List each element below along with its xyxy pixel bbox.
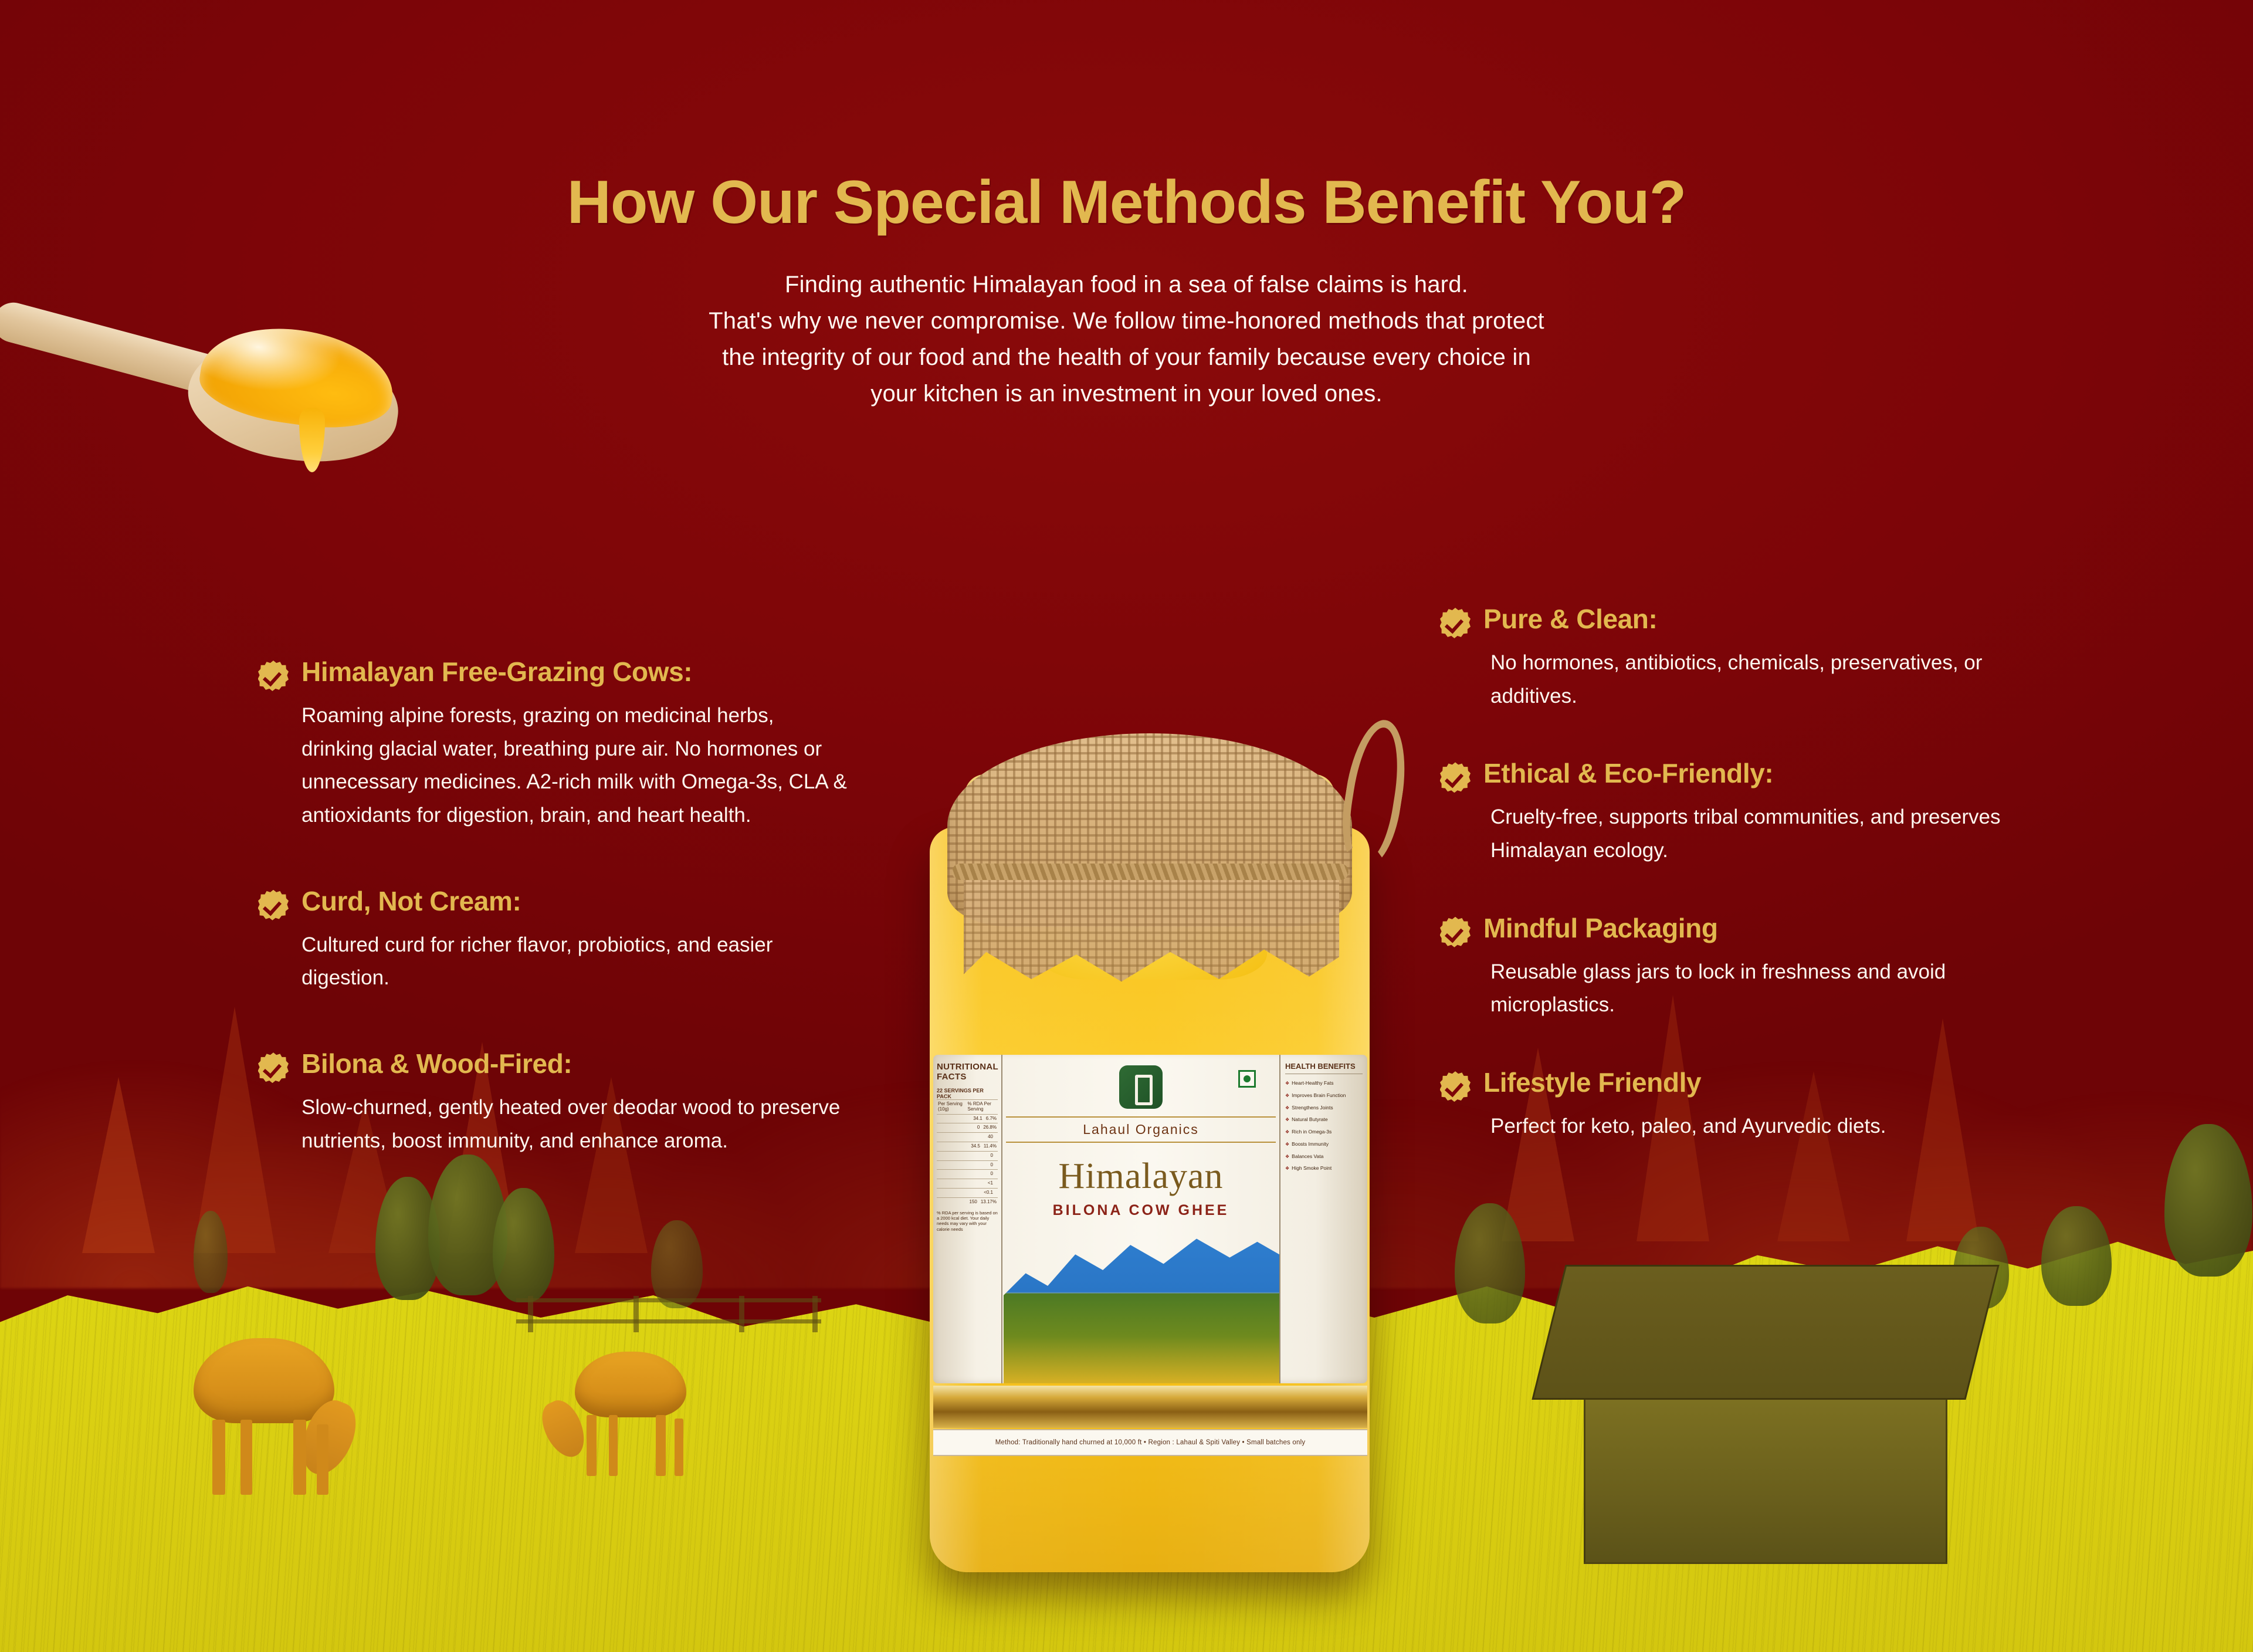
benefit-item-pure-and-clean[interactable]: Pure & Clean: No hormones, antibiotics, …: [1440, 604, 2044, 713]
benefit-heading: Himalayan Free-Grazing Cows:: [258, 657, 851, 691]
health-benefit-item: Strengthens Joints: [1285, 1105, 1363, 1111]
nutrition-row: 0: [937, 1169, 998, 1179]
check-badge-icon: [258, 1052, 289, 1083]
benefit-description: Slow-churned, gently heated over deodar …: [301, 1091, 851, 1157]
check-badge-icon: [258, 890, 289, 920]
benefit-title: Himalayan Free-Grazing Cows:: [301, 657, 692, 687]
nutrition-value: 0: [977, 1125, 980, 1130]
health-benefit-item: Natural Butyrate: [1285, 1117, 1363, 1123]
nutrition-value: 34.1: [973, 1116, 982, 1122]
benefit-heading: Bilona & Wood-Fired:: [258, 1049, 851, 1083]
benefit-heading: Lifestyle Friendly: [1440, 1068, 2044, 1102]
nutrition-row: <0.1: [937, 1188, 998, 1197]
benefit-title: Lifestyle Friendly: [1483, 1068, 1701, 1098]
product-jar[interactable]: NUTRITIONAL FACTS 22 SERVINGS PER PACK P…: [877, 634, 1417, 1596]
mountain-peak: [82, 1077, 155, 1253]
benefit-description: No hormones, antibiotics, chemicals, pre…: [1490, 646, 2044, 713]
brand-name: Lahaul Organics: [1006, 1116, 1276, 1143]
benefits-column-left: Himalayan Free-Grazing Cows: Roaming alp…: [258, 657, 851, 1158]
benefit-heading: Mindful Packaging: [1440, 913, 2044, 947]
brand-logo-icon: [1119, 1065, 1163, 1109]
subcopy-line-2: That's why we never compromise. We follo…: [0, 303, 2253, 339]
health-benefit-item: Rich in Omega-3s: [1285, 1129, 1363, 1135]
nutrition-title: NUTRITIONAL FACTS: [937, 1062, 998, 1082]
nutrition-row: 34.16.7%: [937, 1114, 998, 1123]
fence-post: [528, 1296, 533, 1332]
product-label: NUTRITIONAL FACTS 22 SERVINGS PER PACK P…: [933, 1055, 1367, 1383]
fence-post: [633, 1296, 639, 1332]
benefit-title: Mindful Packaging: [1483, 913, 1718, 943]
benefit-title: Pure & Clean:: [1483, 604, 1657, 634]
check-badge-icon: [1440, 608, 1471, 638]
check-badge-icon: [1440, 917, 1471, 947]
page-title: How Our Special Methods Benefit You?: [0, 170, 2253, 235]
nutrition-value: <0.1: [984, 1190, 993, 1196]
benefit-title: Curd, Not Cream:: [301, 886, 521, 916]
product-name: Himalayan: [1006, 1156, 1276, 1197]
benefit-title: Bilona & Wood-Fired:: [301, 1049, 572, 1079]
nutrition-value: 40: [988, 1135, 993, 1140]
nutrition-facts-panel: NUTRITIONAL FACTS 22 SERVINGS PER PACK P…: [933, 1055, 1002, 1383]
health-benefit-item: Boosts Immunity: [1285, 1142, 1363, 1147]
benefit-item-lifestyle-friendly[interactable]: Lifestyle Friendly Perfect for keto, pal…: [1440, 1068, 2044, 1143]
nutrition-row: <1: [937, 1179, 998, 1188]
header-subcopy: Finding authentic Himalayan food in a se…: [0, 266, 2253, 412]
nutrition-row: 0: [937, 1151, 998, 1160]
subcopy-line-3: the integrity of our food and the health…: [0, 339, 2253, 375]
subcopy-line-4: your kitchen is an investment in your lo…: [0, 375, 2253, 412]
health-benefits-panel: HEALTH BENEFITS Heart-Healthy Fats Impro…: [1279, 1055, 1367, 1383]
nutrition-value: 150: [970, 1200, 977, 1205]
header-section: How Our Special Methods Benefit You? Fin…: [0, 170, 2253, 412]
benefit-item-ethical-eco-friendly[interactable]: Ethical & Eco-Friendly: Cruelty-free, su…: [1440, 759, 2044, 867]
benefit-title: Ethical & Eco-Friendly:: [1483, 759, 1773, 788]
benefit-item-mindful-packaging[interactable]: Mindful Packaging Reusable glass jars to…: [1440, 913, 2044, 1022]
benefit-description: Cultured curd for richer flavor, probiot…: [301, 929, 851, 995]
twine-tie: [952, 864, 1349, 880]
label-mountain-illustration: [1004, 1226, 1279, 1383]
fence-rail: [516, 1298, 821, 1302]
twine-loop: [1335, 716, 1414, 869]
fence-post: [812, 1296, 818, 1332]
benefit-heading: Curd, Not Cream:: [258, 886, 851, 920]
nutrition-rda: 11.4%: [984, 1144, 997, 1149]
benefit-item-free-grazing-cows[interactable]: Himalayan Free-Grazing Cows: Roaming alp…: [258, 657, 851, 832]
green-veg-dot-icon: [1238, 1070, 1256, 1088]
nutrition-value: 0: [991, 1153, 993, 1159]
nutrition-row: 15013.17%: [937, 1197, 998, 1207]
fence-post: [739, 1296, 744, 1332]
benefit-item-bilona-wood-fired[interactable]: Bilona & Wood-Fired: Slow-churned, gentl…: [258, 1049, 851, 1157]
nutrition-row: 40: [937, 1132, 998, 1142]
nutrition-value: 0: [991, 1172, 993, 1177]
nutrition-rda: 13.17%: [981, 1200, 997, 1205]
health-benefits-title: HEALTH BENEFITS: [1285, 1062, 1363, 1074]
benefit-description: Roaming alpine forests, grazing on medic…: [301, 699, 851, 832]
health-benefit-item: High Smoke Point: [1285, 1166, 1363, 1172]
nutrition-value: 0: [991, 1163, 993, 1168]
product-subtitle: BILONA COW GHEE: [1006, 1202, 1276, 1219]
label-center-block: Lahaul Organics Himalayan BILONA COW GHE…: [1006, 1065, 1276, 1219]
nutrition-servings: 22 SERVINGS PER PACK: [937, 1088, 998, 1099]
check-badge-icon: [1440, 762, 1471, 793]
nutrition-header-row: Per Serving (10g) % RDA Per Serving: [937, 1099, 998, 1114]
nutrition-value: <1: [988, 1181, 993, 1186]
nutrition-rda: 26.8%: [983, 1125, 997, 1130]
nutrition-row: 026.8%: [937, 1123, 998, 1132]
benefit-heading: Pure & Clean:: [1440, 604, 2044, 638]
benefits-column-right: Pure & Clean: No hormones, antibiotics, …: [1440, 604, 2044, 1143]
benefit-description: Reusable glass jars to lock in freshness…: [1490, 956, 2044, 1022]
label-method-line: Method: Traditionally hand churned at 10…: [933, 1429, 1367, 1456]
nutrition-col-rda: % RDA Per Serving: [967, 1102, 997, 1112]
benefit-description: Perfect for keto, paleo, and Ayurvedic d…: [1490, 1110, 2044, 1143]
health-benefit-item: Heart-Healthy Fats: [1285, 1081, 1363, 1086]
nutrition-note: % RDA per serving is based on a 2000 kca…: [937, 1210, 998, 1233]
check-badge-icon: [258, 661, 289, 691]
fence-rail: [516, 1319, 821, 1323]
nutrition-row: 34.511.4%: [937, 1142, 998, 1151]
health-benefit-item: Balances Vata: [1285, 1154, 1363, 1160]
nutrition-row: 0: [937, 1160, 998, 1170]
check-badge-icon: [1440, 1071, 1471, 1102]
subcopy-line-1: Finding authentic Himalayan food in a se…: [0, 266, 2253, 303]
benefit-heading: Ethical & Eco-Friendly:: [1440, 759, 2044, 793]
label-gold-band: [933, 1386, 1367, 1428]
nutrition-col-serving: Per Serving (10g): [938, 1102, 964, 1112]
health-benefit-item: Improves Brain Function: [1285, 1093, 1363, 1099]
benefit-description: Cruelty-free, supports tribal communitie…: [1490, 801, 2044, 867]
ghee-drip: [299, 408, 325, 472]
nutrition-value: 34.5: [971, 1144, 980, 1149]
nutrition-rda: 6.7%: [986, 1116, 997, 1122]
benefit-item-curd-not-cream[interactable]: Curd, Not Cream: Cultured curd for riche…: [258, 886, 851, 995]
